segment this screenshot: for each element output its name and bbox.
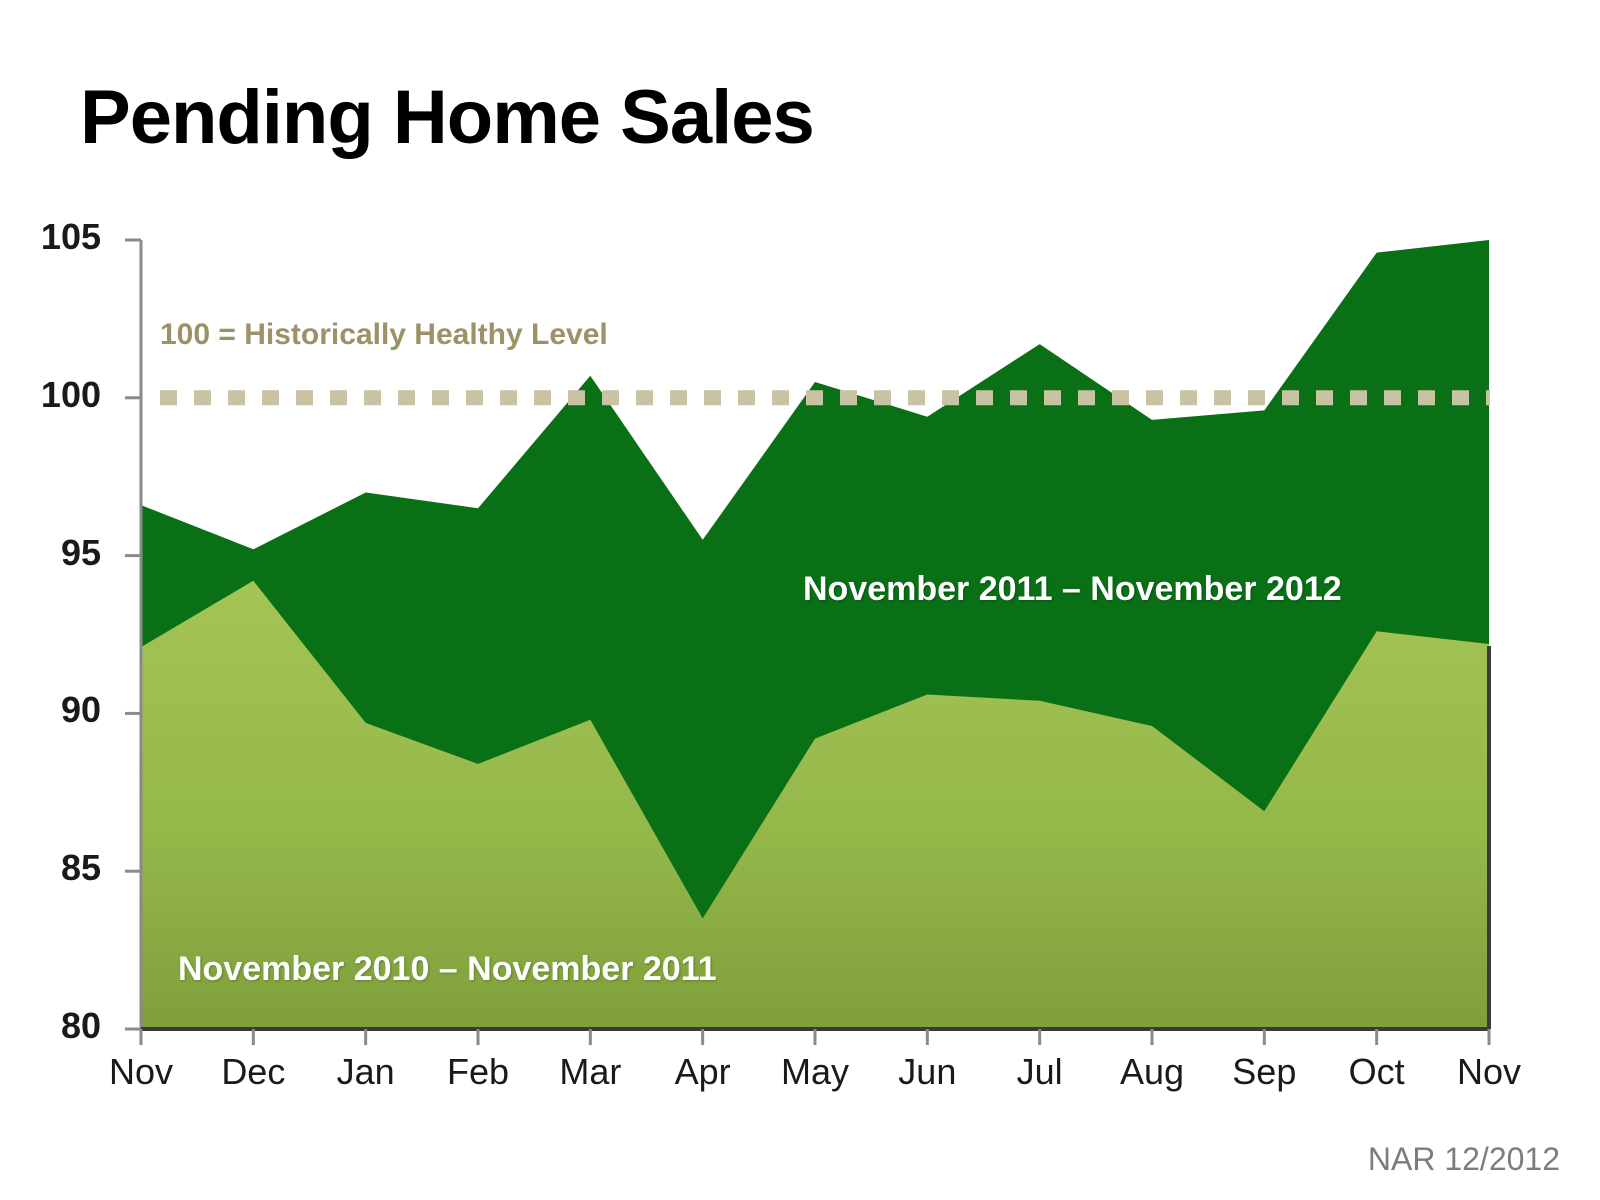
x-axis-ticks: [141, 1029, 1489, 1045]
y-tick-label: 95: [11, 532, 101, 574]
source-note: NAR 12/2012: [1368, 1141, 1560, 1178]
series-label-2010-2011: November 2010 – November 2011: [178, 950, 717, 989]
chart-plot-area: 80859095100105 NovDecJanFebMarAprMayJunJ…: [0, 0, 1600, 1200]
y-axis-ticks: [125, 240, 141, 1029]
slide-root: Pending Home Sales: [0, 0, 1600, 1200]
y-tick-label: 85: [11, 847, 101, 889]
area-chart-svg: [0, 0, 1600, 1200]
x-tick-label: Nov: [1419, 1051, 1559, 1093]
y-tick-label: 105: [11, 216, 101, 258]
y-tick-label: 80: [11, 1005, 101, 1047]
y-tick-label: 90: [11, 689, 101, 731]
healthy-level-annotation: 100 = Historically Healthy Level: [160, 318, 608, 352]
y-tick-label: 100: [11, 374, 101, 416]
series-label-2011-2012: November 2011 – November 2012: [803, 570, 1342, 609]
